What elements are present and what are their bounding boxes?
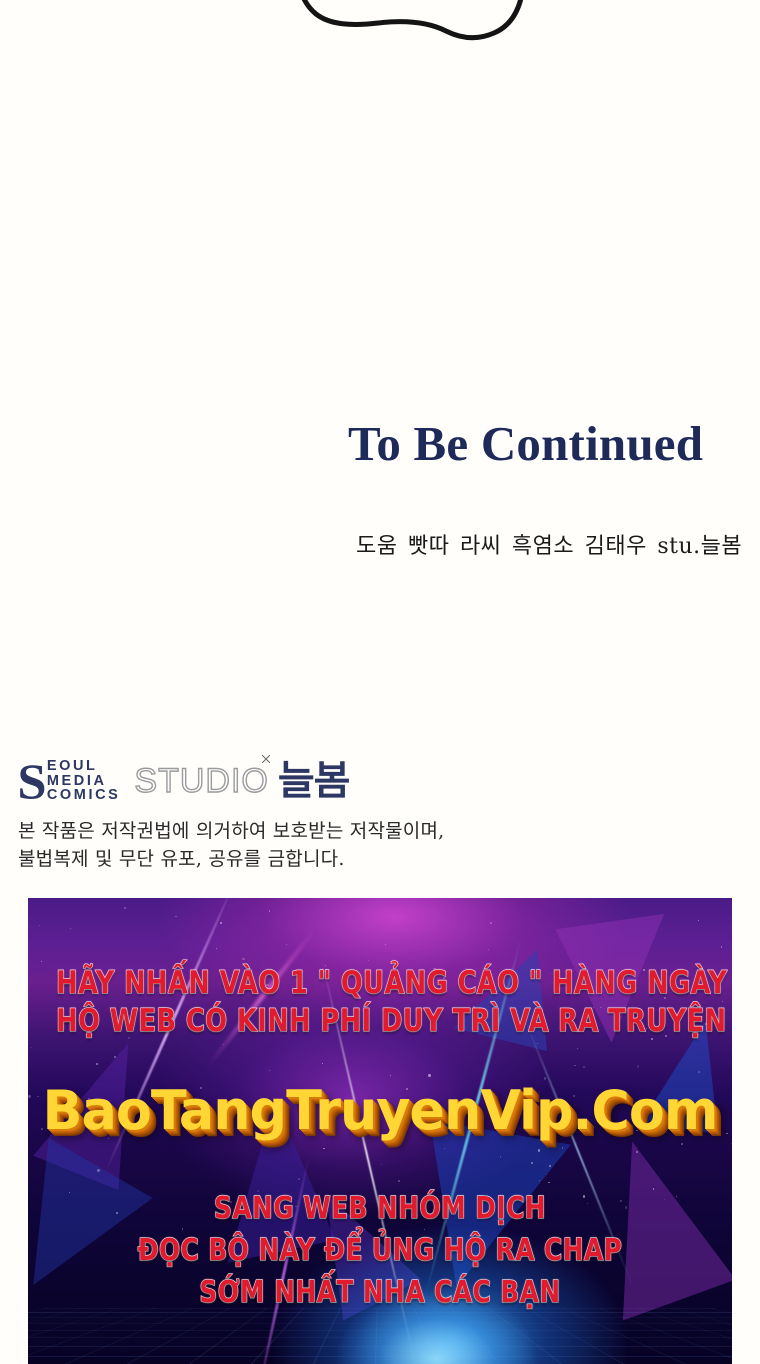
panel-line-art [0, 0, 760, 70]
banner-headline: HÃY NHẤN VÀO 1 " QUẢNG CÁO " HÀNG NGÀY Đ… [28, 964, 732, 1040]
smc-word-media: MEDIA [47, 774, 121, 789]
smc-s-letter: S [17, 762, 44, 801]
banner-site-url[interactable]: BaoTangTruyenVip.Com [39, 1079, 722, 1142]
smc-word-seoul: EOUL [47, 759, 121, 774]
copyright-line-1: 본 작품은 저작권법에 의거하여 보호받는 저작물이며, [18, 818, 538, 846]
banner-footer-line-1: SANG WEB NHÓM DỊCH [56, 1188, 704, 1230]
banner-headline-line-1: HÃY NHẤN VÀO 1 " QUẢNG CÁO " HÀNG NGÀY Đ… [56, 964, 704, 1002]
banner-footer-text: SANG WEB NHÓM DỊCH ĐỌC BỘ NÀY ĐỂ ỦNG HỘ … [28, 1188, 732, 1314]
banner-footer-line-2: ĐỌC BỘ NÀY ĐỂ ỦNG HỘ RA CHAP [56, 1230, 704, 1272]
banner-headline-line-2: HỘ WEB CÓ KINH PHÍ DUY TRÌ VÀ RA TRUYỆN … [56, 1002, 704, 1040]
studio-wordmark: STUDIO [134, 762, 268, 801]
smc-word-comics: COMICS [47, 788, 121, 803]
webtoon-end-page: To Be Continued 도움 빳따 라씨 흑염소 김태우 stu.늘봄 … [0, 0, 760, 1364]
to-be-continued-title: To Be Continued [348, 418, 748, 469]
copyright-line-2: 불법복제 및 무단 유포, 공유를 금합니다. [18, 846, 538, 874]
credits-line: 도움 빳따 라씨 흑염소 김태우 stu.늘봄 [356, 528, 748, 560]
smc-wordmark: EOUL MEDIA COMICS [47, 759, 121, 803]
brand-name-korean: 늘봄 [278, 761, 350, 801]
publisher-logo: S EOUL MEDIA COMICS STUDIO 늘봄 [18, 752, 349, 810]
promo-banner[interactable]: HÃY NHẤN VÀO 1 " QUẢNG CÁO " HÀNG NGÀY Đ… [28, 898, 732, 1364]
seoul-media-comics-mark: S EOUL MEDIA COMICS [18, 759, 120, 803]
banner-footer-line-3: SỚM NHẤT NHA CÁC BẠN [56, 1272, 704, 1314]
copyright-notice: 본 작품은 저작권법에 의거하여 보호받는 저작물이며, 불법복제 및 무단 유… [18, 818, 538, 873]
